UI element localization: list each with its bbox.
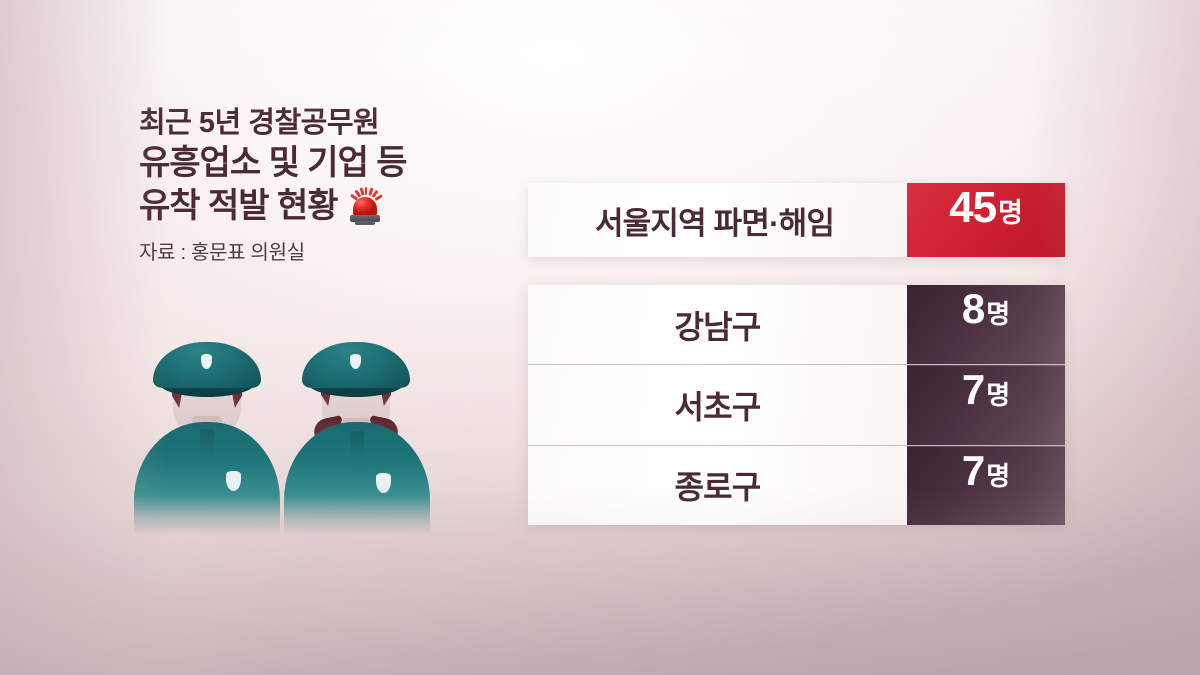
table-header-row: 서울지역 파면·해임 45 명: [528, 183, 1065, 257]
table-row: 강남구 8 명: [528, 285, 1065, 364]
table-row-value-number: 7: [962, 366, 984, 414]
table-row-value-unit: 명: [986, 375, 1010, 412]
headline-line-3: 유착 적발 현황: [139, 185, 338, 228]
table-row-label: 서초구: [528, 365, 907, 444]
table-header-value-number: 45: [949, 183, 996, 233]
table-body: 강남구 8 명 서초구 7 명 종로구 7 명: [528, 285, 1065, 523]
officer-tie-left: [200, 429, 214, 463]
table-row: 서초구 7 명: [528, 364, 1065, 444]
headline-block: 최근 5년 경찰공무원 유흥업소 및 기업 등 유착 적발 현황 자료 : 홍문…: [139, 104, 519, 266]
table-row: 종로구 7 명: [528, 445, 1065, 525]
siren-icon: [346, 187, 384, 227]
police-officers-illustration: [128, 322, 440, 534]
table-row-value-number: 7: [962, 447, 984, 495]
headline-line-2: 유흥업소 및 기업 등: [139, 142, 519, 185]
headline-line-1: 최근 5년 경찰공무원: [139, 104, 519, 142]
table-row-value: 7 명: [907, 446, 1065, 525]
female-police-officer: [280, 334, 435, 534]
headline-line-3-row: 유착 적발 현황: [139, 185, 519, 228]
source-attribution: 자료 : 홍문표 의원실: [139, 240, 519, 266]
table-header-value: 45 명: [907, 183, 1065, 257]
male-police-officer: [134, 334, 284, 534]
table-header-label: 서울지역 파면·해임: [528, 183, 907, 257]
table-row-value-unit: 명: [986, 456, 1010, 493]
officer-tie-right: [350, 431, 364, 465]
table-row-value-number: 8: [962, 285, 984, 333]
table-row-label: 강남구: [528, 285, 907, 364]
news-graphic-stage: 최근 5년 경찰공무원 유흥업소 및 기업 등 유착 적발 현황 자료 : 홍문…: [0, 0, 1200, 675]
table-row-value: 8 명: [907, 285, 1065, 364]
table-row-value: 7 명: [907, 365, 1065, 444]
table-row-value-unit: 명: [986, 294, 1010, 331]
table-header-value-unit: 명: [998, 191, 1023, 230]
table-row-label: 종로구: [528, 446, 907, 525]
